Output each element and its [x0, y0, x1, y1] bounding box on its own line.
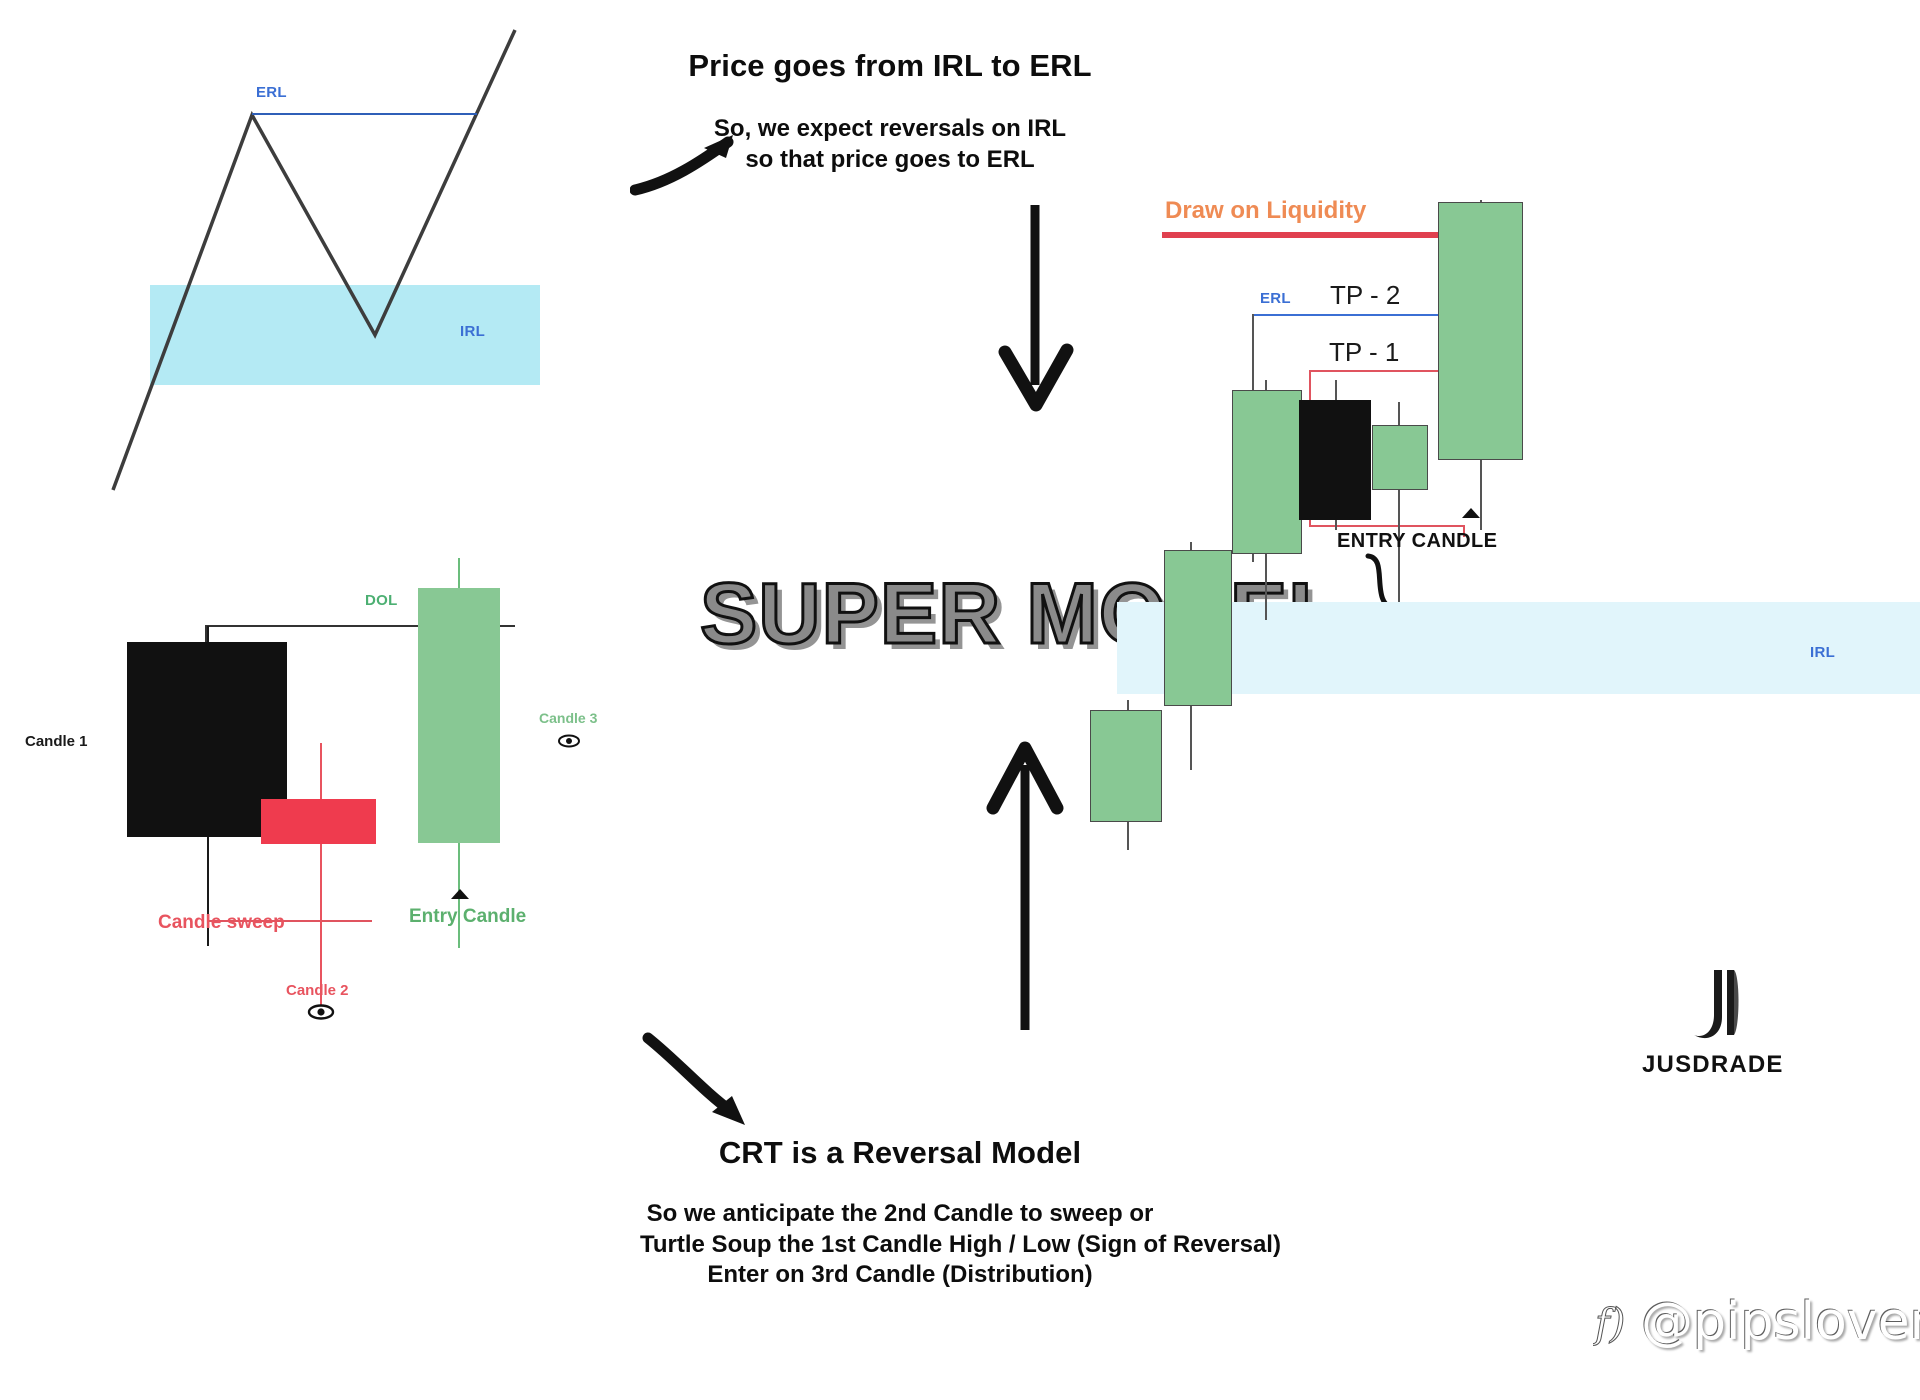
top-subline-1: So, we expect reversals on IRL	[640, 114, 1140, 145]
entry-candle-label: Entry Candle	[409, 906, 526, 928]
brand-name: JUSDRADE	[1642, 1051, 1900, 1079]
top-text-block: Price goes from IRL to ERL So, we expect…	[640, 48, 1140, 175]
dol-label: DOL	[365, 592, 398, 609]
candle3-label: Candle 3	[539, 710, 597, 726]
crt-candle-chart: Candle 1 DOL Candle sweep Candle 2 Candl…	[10, 670, 630, 1370]
watermark: f) @pipslover	[1593, 1292, 1920, 1352]
arrow-to-bottom-text	[640, 1030, 760, 1130]
candle3-body	[418, 588, 500, 843]
tp2-label: TP - 2	[1330, 280, 1400, 311]
candle1-label: Candle 1	[25, 733, 88, 750]
model-irl-zone	[1117, 602, 1920, 694]
model-candle-5-body	[1372, 425, 1428, 490]
erl-level-line	[252, 113, 477, 115]
tp1-label: TP - 1	[1329, 337, 1399, 368]
bottom-headline: CRT is a Reversal Model	[640, 1135, 1160, 1171]
tp1-bracket-bottom	[1309, 525, 1464, 527]
eye-icon	[307, 1004, 335, 1020]
model-entry-candle-label: ENTRY CANDLE	[1337, 530, 1497, 553]
candle2-body	[261, 799, 376, 844]
bottom-subline-2: Turtle Soup the 1st Candle High / Low (S…	[640, 1230, 1160, 1261]
bottom-text-block: CRT is a Reversal Model So we anticipate…	[640, 1135, 1160, 1291]
model-irl-label: IRL	[1810, 644, 1835, 661]
svg-text:f): f)	[1593, 1301, 1625, 1347]
arrow-down-to-model	[995, 200, 1075, 420]
candle2-label: Candle 2	[286, 982, 349, 999]
model-entry-triangle-icon	[1462, 508, 1480, 518]
model-candle-6-body	[1438, 202, 1523, 460]
draw-on-liquidity-line	[1162, 232, 1480, 238]
irl-label: IRL	[460, 323, 485, 340]
erl-label: ERL	[256, 84, 287, 101]
diagram-canvas: ERL IRL Price goes from IRL to ERL So, w…	[0, 0, 1920, 1400]
model-candle-4-body	[1299, 400, 1371, 520]
model-erl-label: ERL	[1260, 290, 1291, 307]
model-erl-line	[1252, 314, 1442, 316]
top-subline-2: so that price goes to ERL	[640, 145, 1140, 176]
model-candle-3-body	[1232, 390, 1302, 554]
model-candle-chart: IRL Draw on Liquidity ERL TP - 2 TP - 1	[1080, 180, 1920, 910]
candle2-wick	[320, 743, 322, 1005]
arrow-up-to-model	[985, 730, 1065, 1040]
price-zigzag-line	[100, 20, 620, 520]
top-headline: Price goes from IRL to ERL	[640, 48, 1140, 84]
draw-on-liquidity-label: Draw on Liquidity	[1165, 197, 1366, 225]
candle-sweep-label: Candle sweep	[158, 912, 285, 934]
eye-icon-candle3	[557, 734, 581, 748]
model-candle-2-body	[1164, 550, 1232, 706]
bottom-subline-1: So we anticipate the 2nd Candle to sweep…	[640, 1199, 1160, 1230]
entry-candle-triangle-icon	[451, 889, 469, 899]
model-candle-1-body	[1090, 710, 1162, 822]
bottom-subline-3: Enter on 3rd Candle (Distribution)	[640, 1260, 1160, 1291]
facebook-icon: f)	[1593, 1297, 1635, 1347]
zigzag-chart: ERL IRL	[100, 20, 620, 520]
brand-logo: JUSDRADE	[1640, 965, 1900, 1079]
jusdrade-logo-icon	[1670, 965, 1760, 1047]
watermark-handle: @pipslover	[1641, 1292, 1920, 1352]
